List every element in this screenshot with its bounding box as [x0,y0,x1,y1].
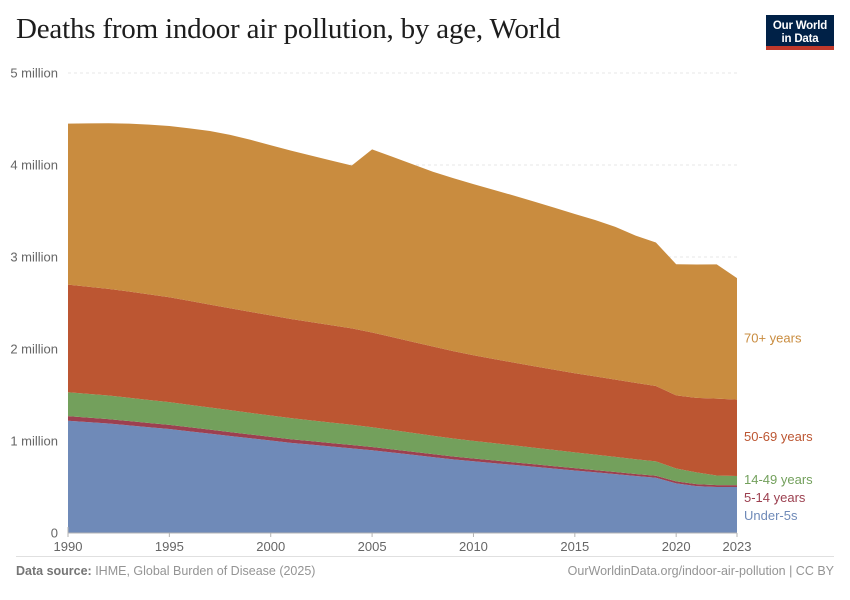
x-axis-tick-label: 2010 [459,539,488,554]
plot-area[interactable]: 01 million2 million3 million4 million5 m… [0,60,850,560]
y-axis-tick-label: 1 million [10,434,58,449]
chart-container: Deaths from indoor air pollution, by age… [0,0,850,600]
owid-logo-line1: Our World [770,20,830,33]
y-axis-tick-label: 5 million [10,66,58,81]
owid-logo[interactable]: Our World in Data [766,15,834,50]
attribution-link[interactable]: OurWorldinData.org/indoor-air-pollution … [568,564,834,578]
x-axis-tick-label: 1990 [54,539,83,554]
series-legend-label[interactable]: 14-49 years [744,472,813,487]
x-axis-tick-label: 2015 [560,539,589,554]
chart-header: Deaths from indoor air pollution, by age… [16,12,834,62]
x-axis-tick-label: 1995 [155,539,184,554]
series-legend-label[interactable]: 5-14 years [744,490,806,505]
x-axis-tick-label: 2000 [256,539,285,554]
stacked-area-chart[interactable]: 01 million2 million3 million4 million5 m… [0,60,850,560]
data-source: Data source: IHME, Global Burden of Dise… [16,564,315,578]
series-legend-label[interactable]: Under-5s [744,508,798,523]
x-axis-tick-label: 2005 [358,539,387,554]
x-axis-tick-label: 2023 [723,539,752,554]
y-axis-tick-label: 4 million [10,158,58,173]
data-source-prefix: Data source: [16,564,92,578]
series-legend-label[interactable]: 50-69 years [744,429,813,444]
y-axis-tick-label: 3 million [10,250,58,265]
page-title: Deaths from indoor air pollution, by age… [16,12,834,46]
series-legend-label[interactable]: 70+ years [744,330,802,345]
data-source-text: IHME, Global Burden of Disease (2025) [92,564,316,578]
y-axis-tick-label: 2 million [10,342,58,357]
owid-logo-line2: in Data [770,33,830,46]
chart-footer: Data source: IHME, Global Burden of Dise… [16,556,834,586]
x-axis-tick-label: 2020 [662,539,691,554]
